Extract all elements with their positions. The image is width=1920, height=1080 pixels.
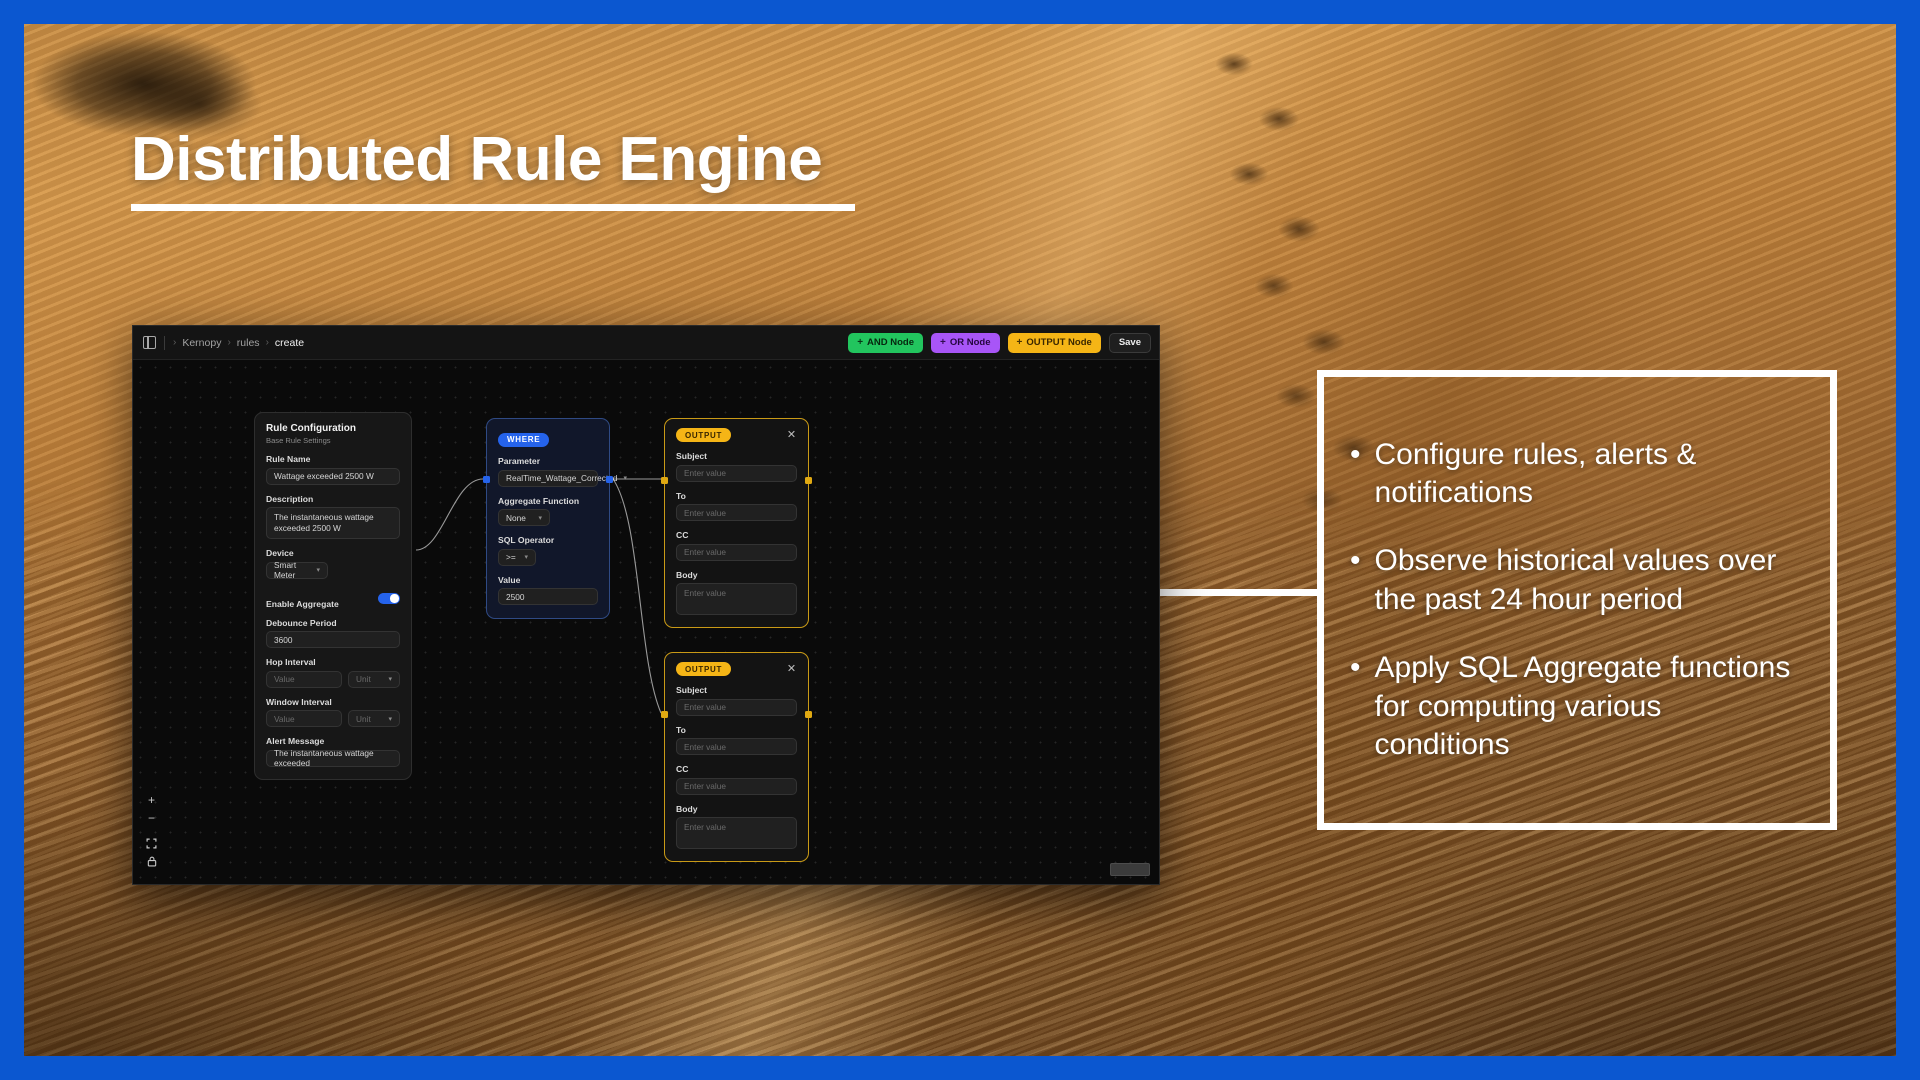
alert-message-label: Alert Message	[266, 736, 400, 746]
add-output-node-label: OUTPUT Node	[1026, 337, 1091, 348]
description-textarea[interactable]: The instantaneous wattage exceeded 2500 …	[266, 507, 400, 539]
where-node-badge: WHERE	[498, 433, 549, 447]
device-select-value: Smart Meter	[274, 560, 310, 580]
breadcrumb-item-rules[interactable]: rules	[237, 337, 260, 349]
bullet-marker: •	[1350, 436, 1361, 513]
hop-interval-label: Hop Interval	[266, 657, 400, 667]
subject-label: Subject	[676, 451, 797, 461]
value-label: Value	[498, 575, 598, 585]
chevron-down-icon: ▾	[538, 514, 542, 522]
chevron-down-icon: ▾	[623, 474, 627, 482]
save-button[interactable]: Save	[1109, 333, 1151, 353]
to-input[interactable]: Enter value	[676, 738, 797, 755]
where-node-input-handle[interactable]	[483, 476, 490, 483]
breadcrumb-item-kernopy[interactable]: Kernopy	[182, 337, 221, 349]
window-interval-unit-select[interactable]: Unit ▾	[348, 710, 400, 727]
breadcrumb-separator-icon: ›	[266, 337, 269, 348]
parameter-label: Parameter	[498, 456, 598, 466]
output-node-output-handle[interactable]	[805, 477, 812, 484]
fit-view-icon[interactable]	[144, 836, 159, 851]
cc-input[interactable]: Enter value	[676, 544, 797, 561]
to-label: To	[676, 725, 797, 735]
output-node-badge: OUTPUT	[676, 662, 731, 676]
panel-title: Rule Configuration	[266, 423, 400, 434]
bullet-text: Apply SQL Aggregate functions for comput…	[1375, 649, 1800, 764]
rule-engine-app-screenshot: › Kernopy › rules › create + AND Node + …	[132, 325, 1160, 885]
panel-subtitle: Base Rule Settings	[266, 436, 400, 445]
canvas-controls: + −	[144, 792, 159, 872]
aggregate-function-label: Aggregate Function	[498, 496, 598, 506]
cc-label: CC	[676, 530, 797, 540]
list-item: • Apply SQL Aggregate functions for comp…	[1350, 649, 1800, 764]
body-label: Body	[676, 570, 797, 580]
output-node-header: OUTPUT ✕	[676, 428, 797, 442]
plus-icon: +	[857, 337, 863, 348]
debounce-period-label: Debounce Period	[266, 618, 400, 628]
rule-name-label: Rule Name	[266, 454, 400, 464]
zoom-in-icon[interactable]: +	[144, 792, 159, 807]
enable-aggregate-label: Enable Aggregate	[266, 599, 339, 609]
sql-operator-label: SQL Operator	[498, 535, 598, 545]
output-node[interactable]: OUTPUT ✕ Subject Enter value To Enter va…	[664, 418, 809, 628]
canvas-minimap[interactable]	[1110, 863, 1150, 876]
alert-message-input[interactable]: The instantaneous wattage exceeded	[266, 750, 400, 767]
app-toolbar: › Kernopy › rules › create + AND Node + …	[133, 326, 1159, 360]
parameter-select[interactable]: RealTime_Wattage_Corrected ▾	[498, 470, 598, 487]
add-or-node-label: OR Node	[950, 337, 991, 348]
chevron-down-icon: ▾	[524, 553, 528, 561]
zoom-out-icon[interactable]: −	[144, 810, 159, 825]
aggregate-function-select[interactable]: None ▾	[498, 509, 550, 526]
enable-aggregate-toggle[interactable]	[378, 593, 400, 604]
body-textarea[interactable]: Enter value	[676, 817, 797, 849]
device-select[interactable]: Smart Meter ▾	[266, 562, 328, 579]
hop-interval-unit-select[interactable]: Unit ▾	[348, 671, 400, 688]
close-icon[interactable]: ✕	[786, 664, 797, 675]
where-node[interactable]: WHERE Parameter RealTime_Wattage_Correct…	[486, 418, 610, 619]
list-item: • Configure rules, alerts & notification…	[1350, 436, 1800, 513]
output-node-input-handle[interactable]	[661, 477, 668, 484]
rule-configuration-panel: Rule Configuration Base Rule Settings Ru…	[254, 412, 412, 780]
subject-label: Subject	[676, 685, 797, 695]
hop-interval-value-input[interactable]: Value	[266, 671, 342, 688]
lock-icon[interactable]	[144, 854, 159, 869]
breadcrumb-separator-icon: ›	[227, 337, 230, 348]
bullet-text: Configure rules, alerts & notifications	[1375, 436, 1800, 513]
add-and-node-label: AND Node	[867, 337, 914, 348]
parameter-select-value: RealTime_Wattage_Corrected	[506, 473, 617, 483]
page-title: Distributed Rule Engine	[131, 127, 855, 192]
sql-operator-select[interactable]: >= ▾	[498, 549, 536, 566]
aggregate-function-value: None	[506, 513, 526, 523]
where-node-output-handle[interactable]	[606, 476, 613, 483]
flow-canvas[interactable]: Rule Configuration Base Rule Settings Ru…	[133, 360, 1159, 884]
title-underline	[131, 204, 855, 211]
to-input[interactable]: Enter value	[676, 504, 797, 521]
output-node-badge: OUTPUT	[676, 428, 731, 442]
window-interval-label: Window Interval	[266, 697, 400, 707]
window-interval-row: Value Unit ▾	[266, 710, 400, 727]
device-label: Device	[266, 548, 400, 558]
plus-icon: +	[1017, 337, 1023, 348]
sql-operator-value: >=	[506, 552, 516, 562]
breadcrumb-separator-icon: ›	[173, 337, 176, 348]
window-interval-value-input[interactable]: Value	[266, 710, 342, 727]
bullet-text: Observe historical values over the past …	[1375, 542, 1800, 619]
bullet-marker: •	[1350, 542, 1361, 619]
decorative-connector-rule	[1160, 589, 1320, 596]
description-label: Description	[266, 494, 400, 504]
hop-unit-value: Unit	[356, 674, 371, 684]
cc-label: CC	[676, 764, 797, 774]
subject-input[interactable]: Enter value	[676, 699, 797, 716]
subject-input[interactable]: Enter value	[676, 465, 797, 482]
add-output-node-button[interactable]: + OUTPUT Node	[1008, 333, 1101, 353]
title-block: Distributed Rule Engine	[131, 127, 855, 211]
output-node-output-handle[interactable]	[805, 711, 812, 718]
rule-name-input[interactable]: Wattage exceeded 2500 W	[266, 468, 400, 485]
to-label: To	[676, 491, 797, 501]
hop-interval-row: Value Unit ▾	[266, 671, 400, 688]
slide-frame: Distributed Rule Engine › Kernopy › rule…	[24, 24, 1896, 1056]
cc-input[interactable]: Enter value	[676, 778, 797, 795]
body-label: Body	[676, 804, 797, 814]
chevron-down-icon: ▾	[388, 715, 392, 723]
plus-icon: +	[940, 337, 946, 348]
enable-aggregate-row: Enable Aggregate	[266, 589, 400, 609]
bullet-list-card: • Configure rules, alerts & notification…	[1317, 370, 1837, 830]
close-icon[interactable]: ✕	[786, 430, 797, 441]
chevron-down-icon: ▾	[316, 566, 320, 574]
output-node[interactable]: OUTPUT ✕ Subject Enter value To Enter va…	[664, 652, 809, 862]
window-unit-value: Unit	[356, 714, 371, 724]
breadcrumb: › Kernopy › rules › create	[173, 337, 304, 349]
value-input[interactable]: 2500	[498, 588, 598, 605]
chevron-down-icon: ▾	[388, 675, 392, 683]
add-and-node-button[interactable]: + AND Node	[848, 333, 923, 353]
output-node-input-handle[interactable]	[661, 711, 668, 718]
bullet-marker: •	[1350, 649, 1361, 764]
add-or-node-button[interactable]: + OR Node	[931, 333, 999, 353]
breadcrumb-item-create[interactable]: create	[275, 337, 304, 349]
body-textarea[interactable]: Enter value	[676, 583, 797, 615]
output-node-header: OUTPUT ✕	[676, 662, 797, 676]
list-item: • Observe historical values over the pas…	[1350, 542, 1800, 619]
toolbar-divider	[164, 336, 165, 350]
debounce-period-input[interactable]: 3600	[266, 631, 400, 648]
sidebar-toggle-icon[interactable]	[143, 336, 156, 349]
